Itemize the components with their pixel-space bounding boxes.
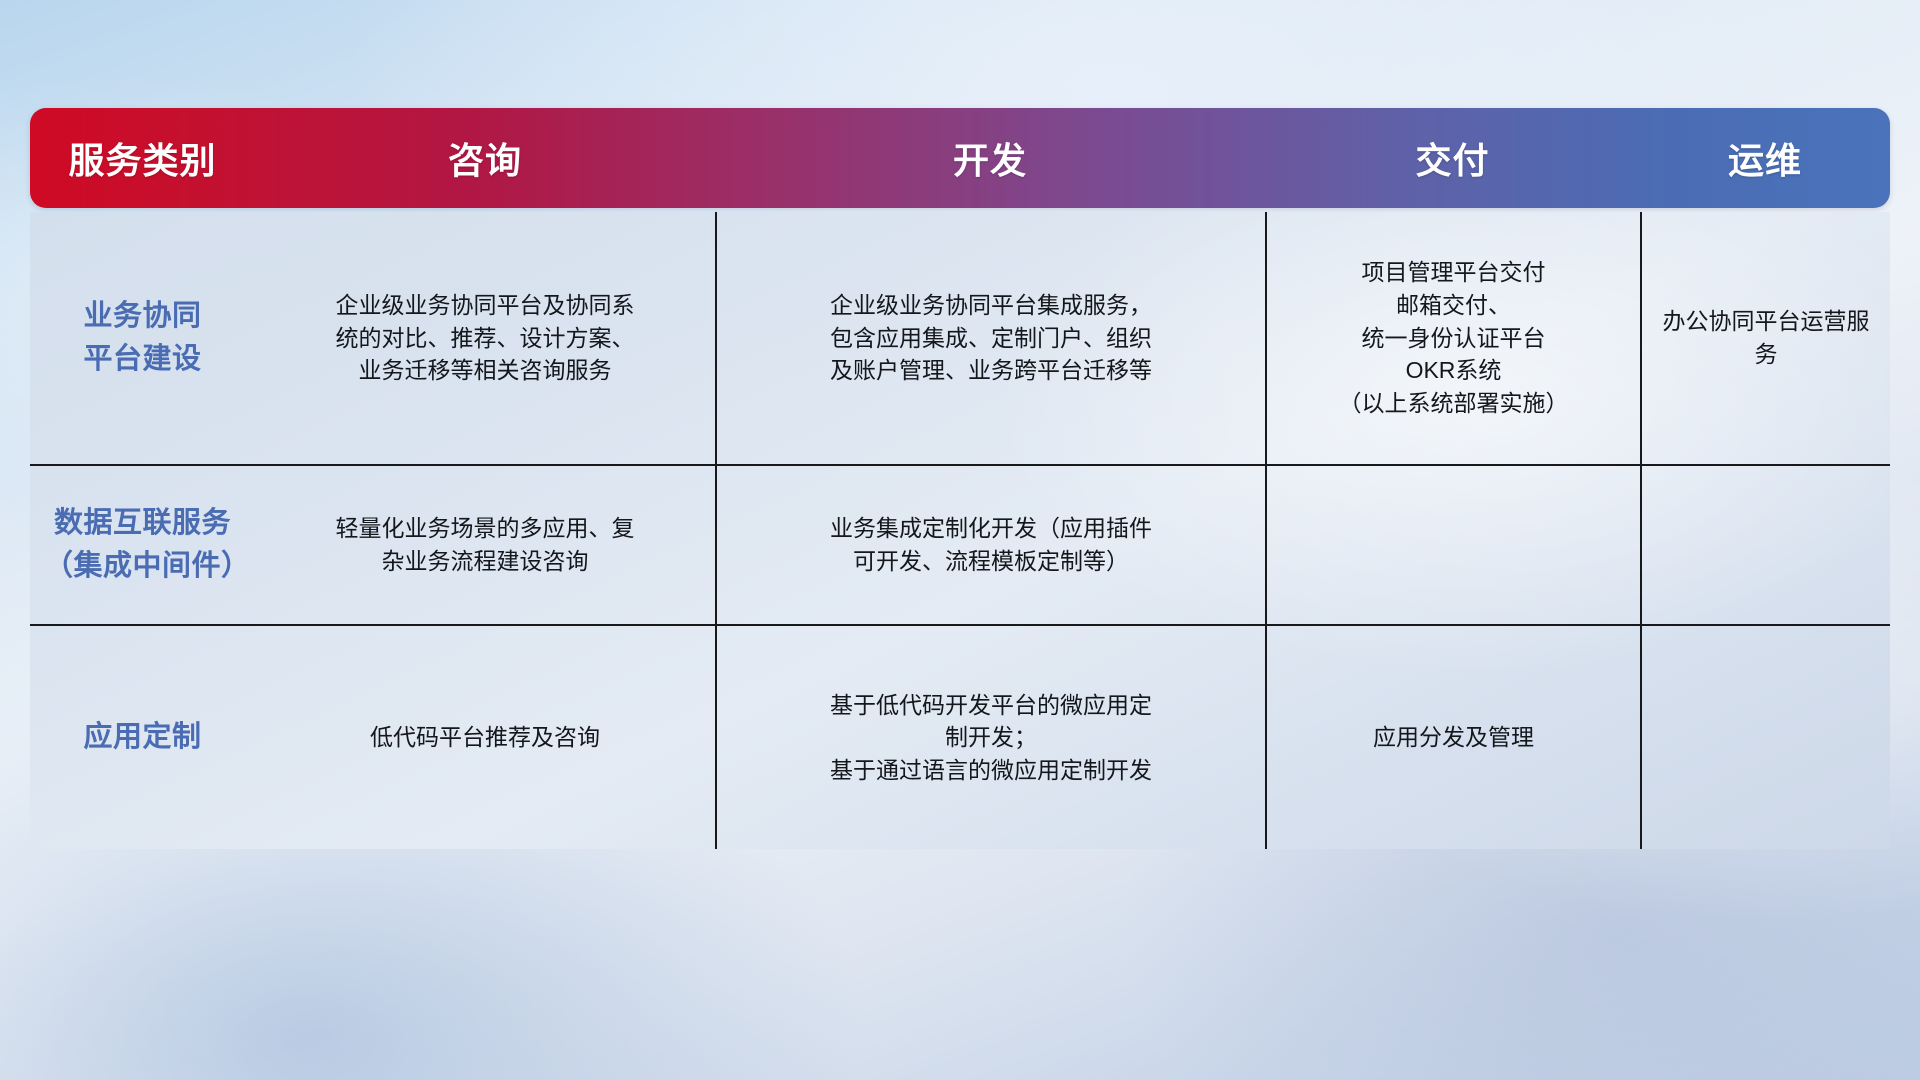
row-category-label: 数据互联服务 （集成中间件）: [30, 466, 255, 624]
cell-operations: 办公协同平台运营服务: [1640, 212, 1890, 464]
cell-operations: [1640, 466, 1890, 624]
column-header-development: 开发: [715, 132, 1265, 184]
cell-delivery: 项目管理平台交付 邮箱交付、 统一身份认证平台 OKR系统 （以上系统部署实施）: [1265, 212, 1640, 464]
service-category-matrix-table: 服务类别 咨询 开发 交付 运维 业务协同 平台建设 企业级业务协同平台及协同系…: [30, 108, 1890, 778]
table-row: 业务协同 平台建设 企业级业务协同平台及协同系 统的对比、推荐、设计方案、 业务…: [30, 212, 1890, 464]
cell-development: 业务集成定制化开发（应用插件 可开发、流程模板定制等）: [715, 466, 1265, 624]
table-header-row: 服务类别 咨询 开发 交付 运维: [30, 108, 1890, 208]
cell-consulting: 企业级业务协同平台及协同系 统的对比、推荐、设计方案、 业务迁移等相关咨询服务: [255, 212, 715, 464]
row-category-label: 应用定制: [30, 626, 255, 849]
cell-delivery: 应用分发及管理: [1265, 626, 1640, 849]
cell-development: 基于低代码开发平台的微应用定 制开发； 基于通过语言的微应用定制开发: [715, 626, 1265, 849]
column-header-category: 服务类别: [30, 132, 255, 184]
cell-consulting: 低代码平台推荐及咨询: [255, 626, 715, 849]
table-body: 业务协同 平台建设 企业级业务协同平台及协同系 统的对比、推荐、设计方案、 业务…: [30, 212, 1890, 849]
cell-delivery: [1265, 466, 1640, 624]
column-header-operations: 运维: [1640, 132, 1890, 184]
row-category-label: 业务协同 平台建设: [30, 212, 255, 464]
table-row: 数据互联服务 （集成中间件） 轻量化业务场景的多应用、复 杂业务流程建设咨询 业…: [30, 464, 1890, 624]
cell-operations: [1640, 626, 1890, 849]
cell-consulting: 轻量化业务场景的多应用、复 杂业务流程建设咨询: [255, 466, 715, 624]
table-row: 应用定制 低代码平台推荐及咨询 基于低代码开发平台的微应用定 制开发； 基于通过…: [30, 624, 1890, 849]
cell-development: 企业级业务协同平台集成服务， 包含应用集成、定制门户、组织 及账户管理、业务跨平…: [715, 212, 1265, 464]
column-header-consulting: 咨询: [255, 132, 715, 184]
column-header-delivery: 交付: [1265, 132, 1640, 184]
